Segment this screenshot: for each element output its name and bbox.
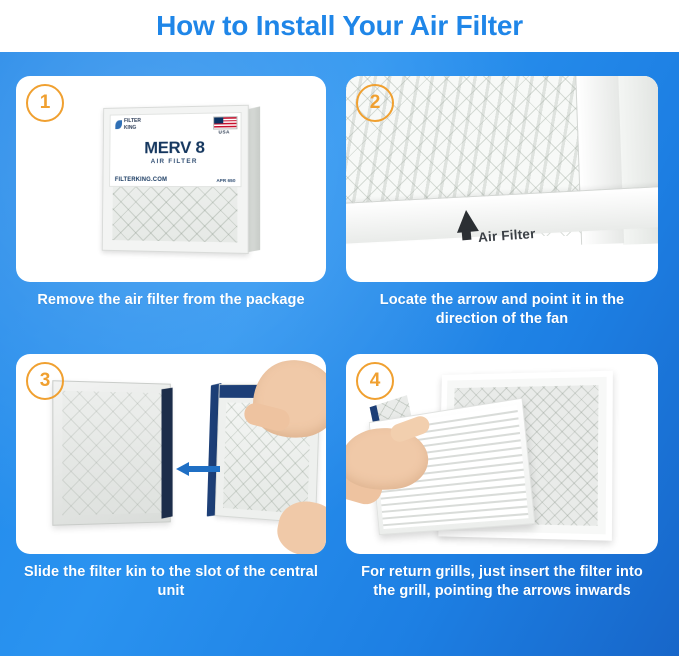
filter-slot	[161, 388, 172, 519]
step-1-image-card: 1	[16, 76, 326, 282]
brand-lockup: FILTER KING	[115, 118, 141, 131]
step-2-caption: Locate the arrow and point it in the dir…	[346, 291, 658, 330]
step-3: 3	[16, 354, 326, 644]
filter-product-label: FILTER KING USA MERV 8	[109, 112, 242, 187]
page-title: How to Install Your Air Filter	[156, 10, 523, 42]
step-4-image-card: 4	[346, 354, 658, 554]
air-filter-product: FILTER KING USA MERV 8	[102, 105, 249, 254]
apr-code-text: APR 650	[216, 178, 235, 183]
label-top-row: FILTER KING USA	[115, 116, 235, 138]
usa-badge-label: USA	[213, 129, 235, 134]
step-4-caption: For return grills, just insert the filte…	[346, 563, 658, 602]
step-2-number-badge: 2	[356, 84, 394, 122]
product-subtitle: AIR FILTER	[115, 158, 235, 166]
steps-grid: 1	[0, 52, 679, 656]
website-text: FILTERKING.COM	[115, 177, 167, 183]
step-4: 4 F	[346, 354, 658, 644]
step-1: 1	[16, 76, 326, 342]
label-bottom-row: FILTERKING.COM APR 650	[115, 177, 236, 183]
usa-flag-icon	[213, 116, 237, 130]
header: How to Install Your Air Filter	[0, 0, 679, 52]
left-arrow-icon	[176, 462, 220, 476]
step-1-caption: Remove the air filter from the package	[16, 291, 326, 310]
merv-rating-title: MERV 8	[115, 138, 235, 156]
step-1-number-badge: 1	[26, 84, 64, 122]
step-3-caption: Slide the filter kin to the slot of the …	[16, 563, 326, 602]
filter-frame: FILTER KING USA MERV 8	[102, 105, 249, 254]
filter-side-panel	[249, 106, 260, 252]
central-unit-face	[62, 391, 161, 516]
infographic-page: How to Install Your Air Filter 1	[0, 0, 679, 656]
airflow-arrow-tail	[462, 230, 472, 241]
brand-text: FILTER KING	[124, 118, 141, 131]
central-unit-housing	[52, 380, 170, 526]
step-3-image-card: 3	[16, 354, 326, 554]
step-2: 2 Air Filter Locate the arrow and point …	[346, 76, 658, 342]
step-4-number-badge: 4	[356, 362, 394, 400]
filter-king-leaf-icon	[115, 120, 122, 129]
made-in-usa-badge: USA	[213, 116, 235, 134]
step-3-number-badge: 3	[26, 362, 64, 400]
filter-edge-text: Air Filter	[478, 226, 536, 245]
step-2-image-card: 2 Air Filter	[346, 76, 658, 282]
